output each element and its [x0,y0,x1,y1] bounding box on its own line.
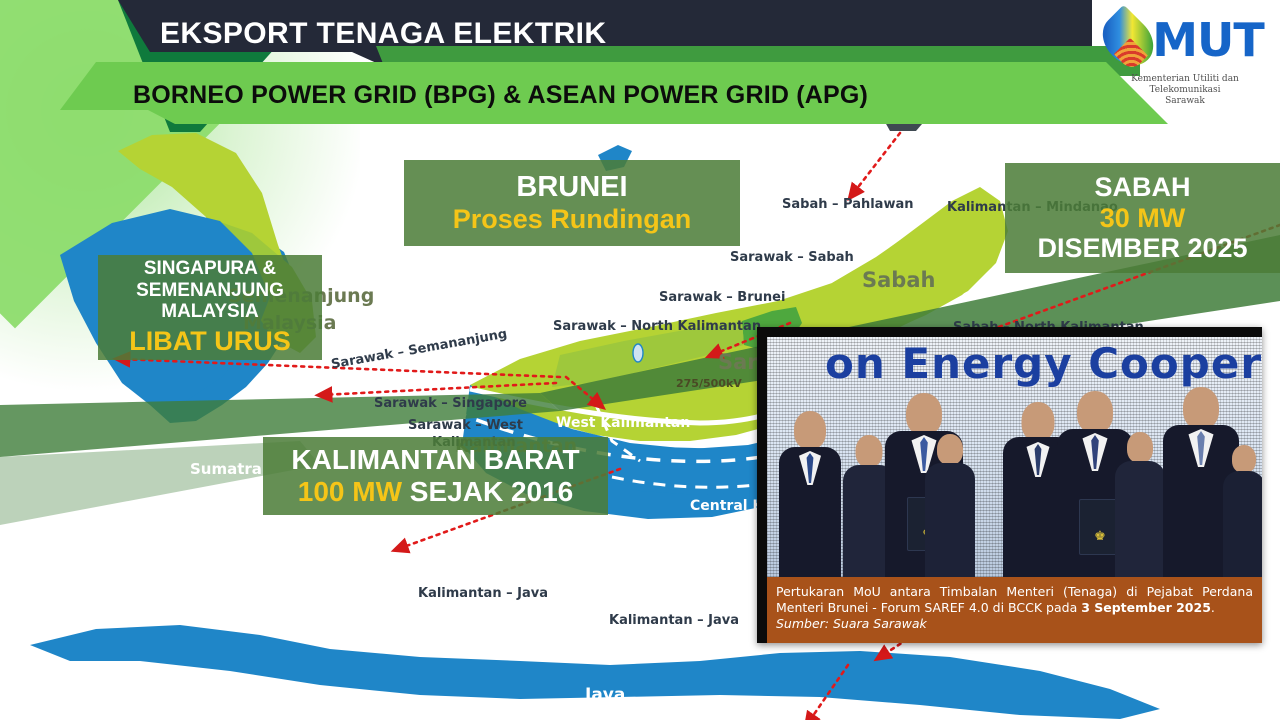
person-head [1127,432,1153,463]
logo-acronym: MUT [1152,10,1264,70]
caption-date: 3 September 2025 [1081,600,1211,615]
person-head [856,435,883,467]
map-interconnector-label: Sarawak – North Kalimantan [553,319,761,334]
callout-kalimantan-barat: KALIMANTAN BARAT 100 MW SEJAK 2016 [263,437,608,515]
mou-ceremony-photo: on Energy Cooper ♚ [767,337,1262,577]
map-interconnector-label: Sarawak – Sabah [730,250,854,265]
caption-period: . [1211,600,1215,615]
callout-sabah: SABAH 30 MW DISEMBER 2025 [1005,163,1280,273]
callout-singapura-line4: LIBAT URUS [129,326,291,357]
person-4 [925,427,975,577]
callout-kalbar-mw: 100 MW [298,476,402,507]
mut-logo: MUT Kementerian Utiliti dan Telekomunika… [1096,4,1274,114]
water-body-small-1 [633,344,643,362]
callout-sabah-line2: 30 MW [1100,203,1186,234]
callout-brunei-line2: Proses Rundingan [453,204,692,235]
map-interconnector-label: Kalimantan – Java [609,613,739,628]
logo-subtitle: Kementerian Utiliti dan Telekomunikasi S… [1096,74,1274,107]
person-1 [779,402,841,577]
logo-subtitle-line2: Telekomunikasi [1096,85,1274,96]
person-body [1223,471,1262,577]
callout-kalbar-line1: KALIMANTAN BARAT [291,444,579,476]
caption-source: Sumber: Suara Sarawak [776,616,927,631]
callout-kalbar-line2: 100 MW SEJAK 2016 [298,476,573,508]
person-9 [1223,437,1262,577]
person-head [1183,387,1219,429]
map-region-label: Sabah [862,268,935,292]
map-region-label: Java [585,685,625,705]
callout-sabah-line1: SABAH [1094,172,1190,203]
callout-singapura-line3: MALAYSIA [161,301,258,323]
slide-canvas: SumatraJavaWest KalimantanCentral KalSab… [0,0,1280,720]
map-region-label: 275/500kV [676,377,742,390]
logo-subtitle-line3: Sarawak [1096,96,1274,107]
logo-mark: MUT [1096,4,1274,76]
folder-crest-icon: ♚ [1094,528,1106,544]
map-interconnector-label: Sabah – Pahlawan [782,197,914,212]
photo-inset: on Energy Cooper ♚ [757,327,1262,643]
callout-singapura-semenanjung: SINGAPURA & SEMENANJUNG MALAYSIA LIBAT U… [98,255,322,360]
callout-brunei-line1: BRUNEI [516,171,627,204]
page-subtitle: BORNEO POWER GRID (BPG) & ASEAN POWER GR… [133,76,1093,114]
callout-singapura-line2: SEMENANJUNG [136,280,284,302]
callout-kalbar-since: SEJAK 2016 [402,476,573,507]
person-head [794,411,826,449]
photo-caption: Pertukaran MoU antara Timbalan Menteri (… [767,577,1262,643]
map-interconnector-label: Sarawak – West [408,418,523,433]
person-head [1232,445,1256,473]
person-7 [1115,425,1165,577]
person-body [1115,461,1165,577]
map-region-label: Sumatra [190,460,262,478]
person-head [1077,391,1113,433]
logo-subtitle-line1: Kementerian Utiliti dan [1096,74,1274,85]
map-interconnector-label: Kalimantan – Java [418,586,548,601]
person-head [1022,402,1055,441]
map-interconnector-label: Sarawak – Singapore [374,396,527,411]
callout-sabah-line3: DISEMBER 2025 [1037,233,1247,264]
callout-singapura-line1: SINGAPURA & [144,258,276,280]
page-title: EKSPORT TENAGA ELEKTRIK [160,8,1060,60]
map-interconnector-label: Sarawak – Brunei [659,290,785,305]
callout-brunei: BRUNEI Proses Rundingan [404,160,740,246]
person-body [925,463,975,577]
line-sabah-pahlawan [852,133,900,195]
map-region-label: West Kalimantan [556,415,690,431]
person-head [937,434,963,465]
